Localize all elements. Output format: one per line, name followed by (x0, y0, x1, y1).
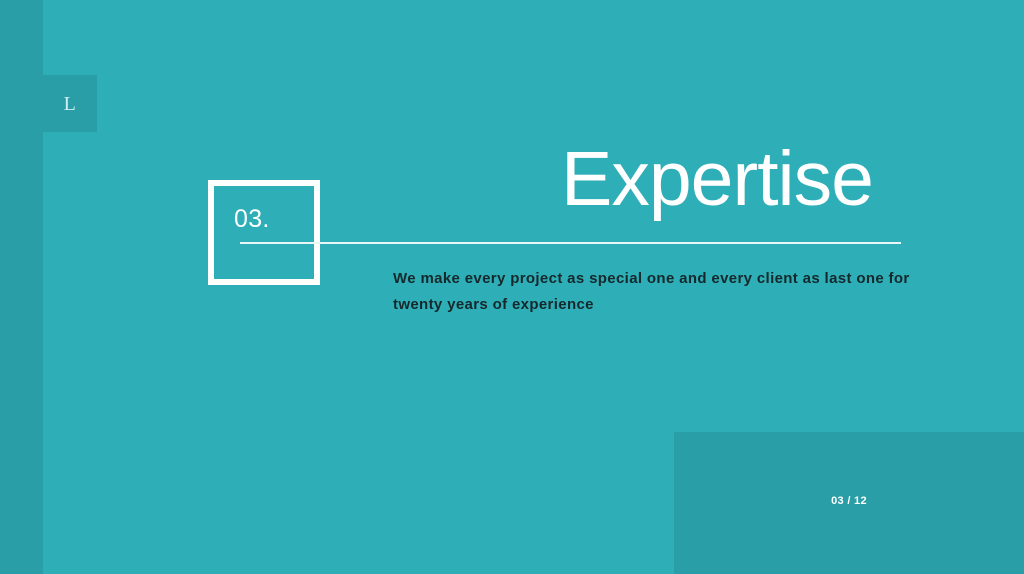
brand-logo-letter-icon: L (64, 94, 77, 114)
slide-body-text: We make every project as special one and… (393, 266, 913, 318)
section-number-label: 03. (234, 207, 270, 232)
page-number-indicator: 03 / 12 (674, 495, 1024, 507)
slide-title: Expertise (561, 141, 873, 218)
presentation-slide: L 03. Expertise We make every project as… (0, 0, 1024, 574)
brand-logo-block: L (43, 75, 97, 132)
title-divider-rule (240, 242, 901, 244)
left-accent-strip (0, 0, 43, 574)
